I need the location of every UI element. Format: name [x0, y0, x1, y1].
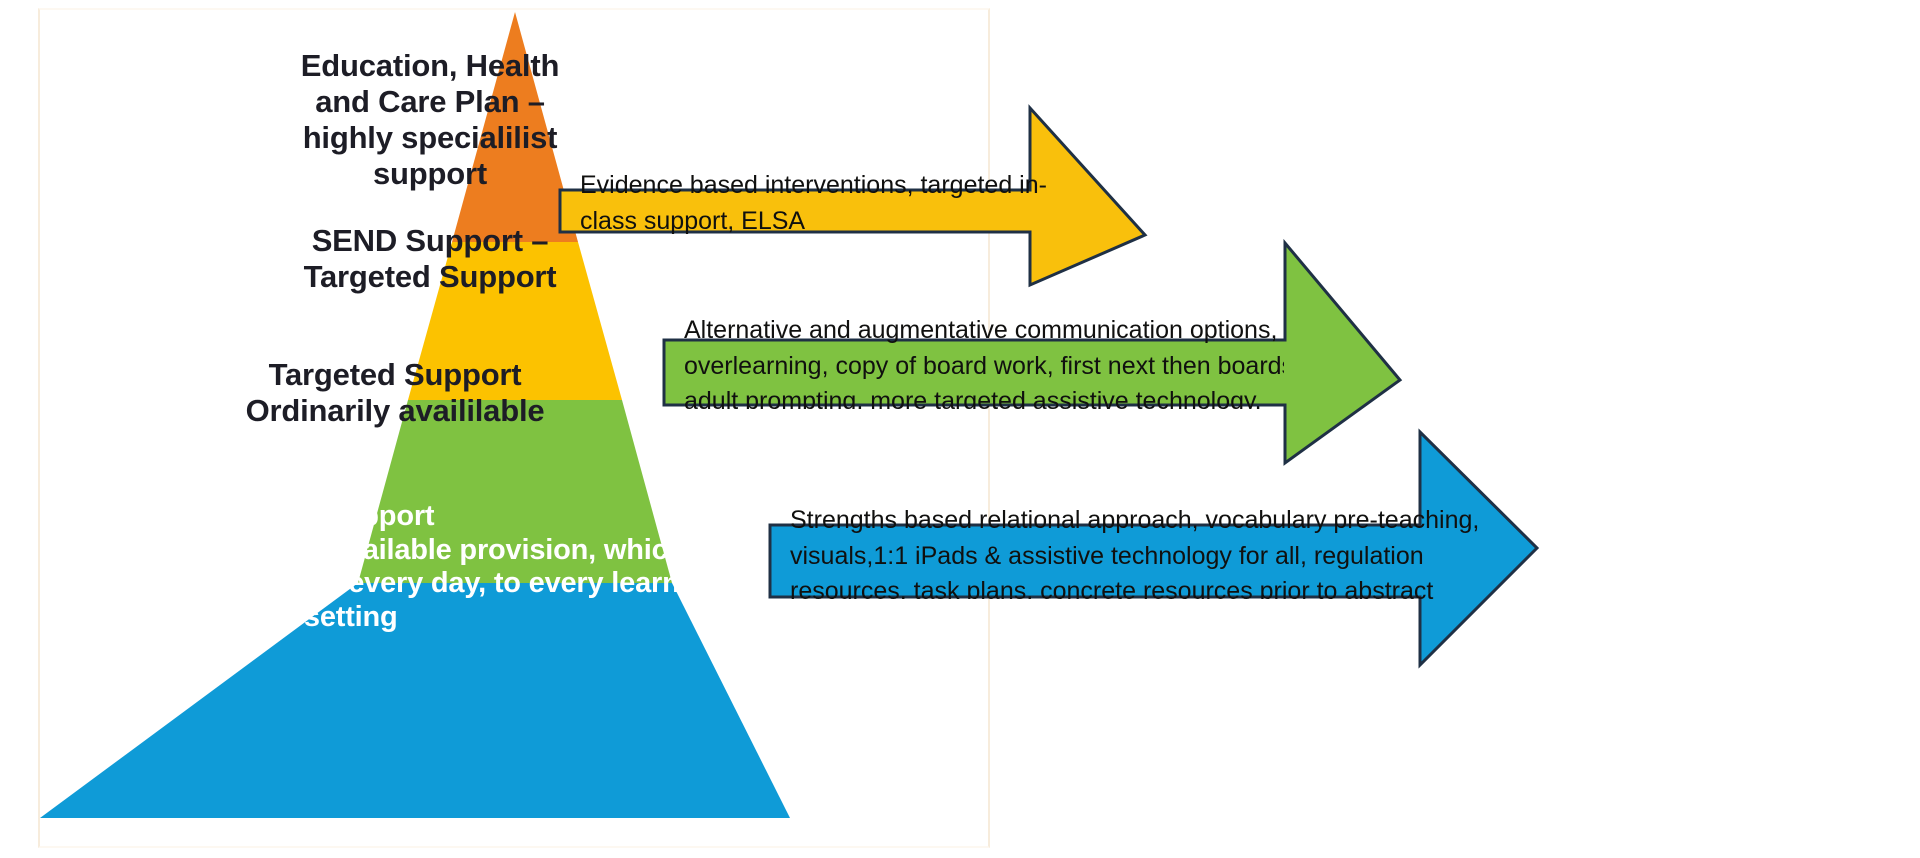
arrow-yellow-line-2: class support, ELSA	[580, 204, 1080, 240]
arrow-yellow-line-1: Evidence based interventions, targeted i…	[580, 168, 1080, 204]
arrows-graphic	[0, 0, 1920, 858]
arrow-label-green: Alternative and augmentative communicati…	[684, 313, 1284, 409]
pyramid-label-targeted-support: Targeted Support Ordinarily availilable	[230, 357, 560, 429]
arrow-blue-line-3: resources, task plans, concrete resource…	[790, 574, 1490, 599]
pyramid-label-universal-support: Universal Support Ordinarily available p…	[188, 500, 728, 635]
ehcp-line-2: and Care Plan –	[315, 84, 545, 119]
arrow-label-blue: Strengths based relational approach, voc…	[790, 503, 1490, 599]
ehcp-line-1: Education, Health	[301, 48, 559, 83]
arrow-green-line-3: adult prompting, more targeted assistive…	[684, 384, 1284, 409]
arrow-green-line-2: overlearning, copy of board work, first …	[684, 349, 1284, 385]
arrow-label-yellow: Evidence based interventions, targeted i…	[580, 168, 1080, 239]
send-line-2: Targeted Support	[304, 259, 557, 294]
targeted-line-2: Ordinarily availilable	[246, 393, 545, 428]
universal-line-1: Ordinarily available provision, which	[188, 534, 685, 566]
universal-heading: Universal Support	[188, 500, 434, 532]
pyramid-label-send-support: SEND Support – Targeted Support	[300, 223, 560, 295]
ehcp-line-4: support	[373, 156, 487, 191]
universal-line-2: is available every day, to every learner…	[188, 567, 713, 599]
universal-line-3: in every setting	[188, 601, 398, 633]
arrow-green-line-1: Alternative and augmentative communicati…	[684, 313, 1284, 349]
diagram-canvas: Education, Health and Care Plan – highly…	[0, 0, 1920, 858]
pyramid-label-ehcp: Education, Health and Care Plan – highly…	[300, 48, 560, 192]
ehcp-line-3: highly specialilist	[303, 120, 558, 155]
arrow-blue-line-2: visuals,1:1 iPads & assistive technology…	[790, 539, 1490, 575]
arrow-blue-line-1: Strengths based relational approach, voc…	[790, 503, 1490, 539]
targeted-line-1: Targeted Support	[269, 357, 522, 392]
send-line-1: SEND Support –	[312, 223, 549, 258]
